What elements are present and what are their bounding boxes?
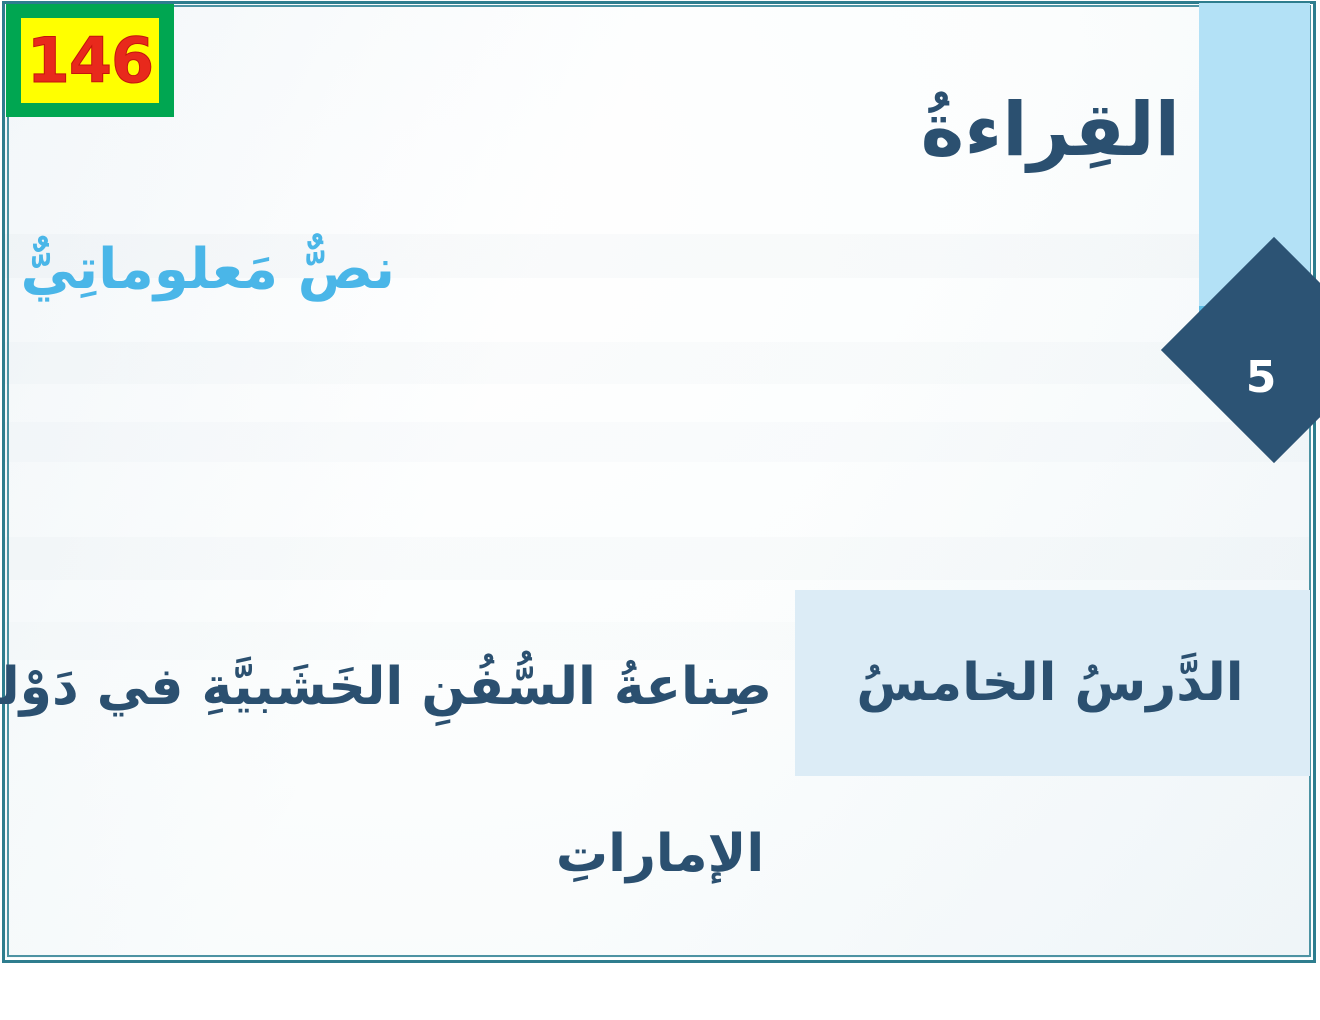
- page-bottom-margin: [0, 966, 1320, 1020]
- lesson-title-line-1: صِناعةُ السُّفُنِ الخَشَبيَّةِ في دَوْلة…: [0, 655, 772, 720]
- text-genre-label: نصٌّ مَعلوماتِيٌّ: [20, 238, 395, 302]
- page-number-text: 146: [27, 30, 153, 92]
- page-number-badge: 146: [6, 4, 174, 117]
- textbook-page: 5 146 القِراءةُ نصٌّ مَعلوماتِيٌّ الدَّر…: [0, 0, 1320, 1020]
- lesson-title-line-2: الإماراتِ: [0, 822, 1320, 887]
- lesson-banner-label: الدَّرسُ الخامسُ: [800, 652, 1300, 714]
- page-number-badge-inner: 146: [21, 18, 159, 103]
- subject-title: القِراءةُ: [921, 88, 1180, 173]
- unit-number-label: 5: [1229, 356, 1293, 400]
